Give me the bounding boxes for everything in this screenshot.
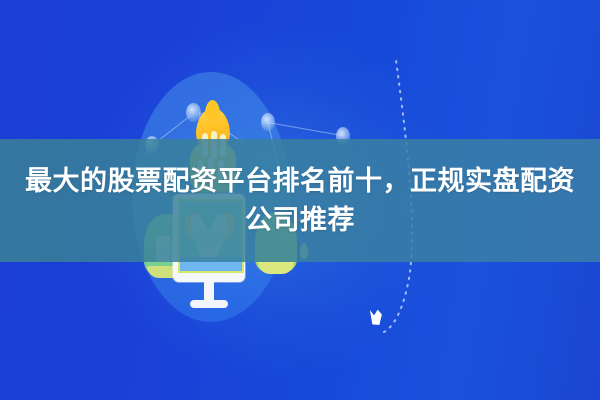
bush-right-base — [258, 262, 294, 274]
banner-title: 最大的股票配资平台排名前十，正规实盘配资公司推荐 — [20, 162, 580, 239]
network-node-icon — [261, 113, 275, 131]
monitor-stand-base — [190, 300, 228, 308]
promo-banner: 最大的股票配资平台排名前十，正规实盘配资公司推荐 — [0, 0, 600, 400]
title-band: 最大的股票配资平台排名前十，正规实盘配资公司推荐 — [0, 139, 600, 262]
